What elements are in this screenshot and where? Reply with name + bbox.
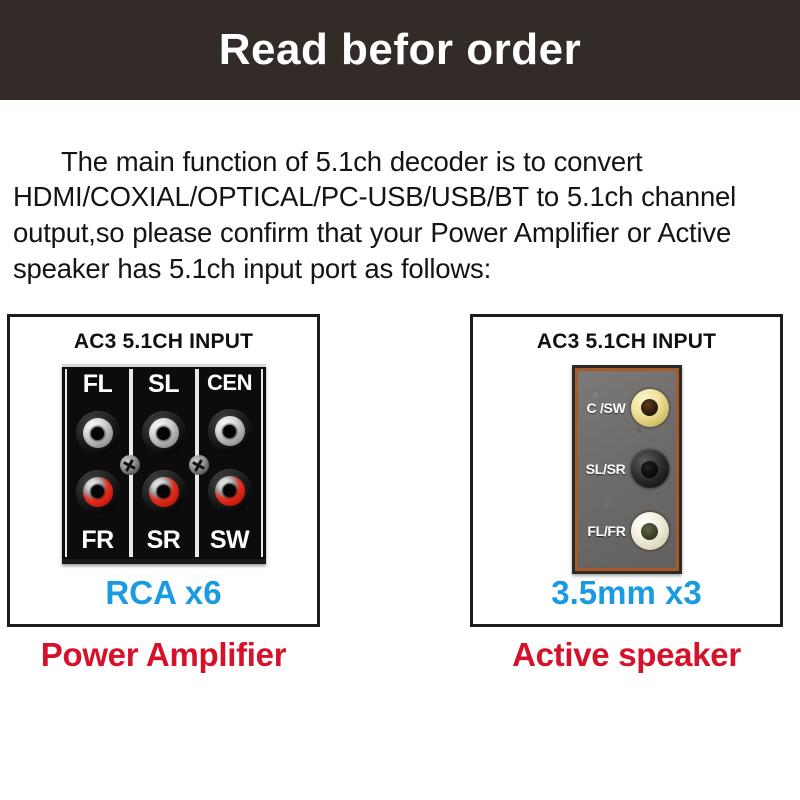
page-title: Read befor order (219, 28, 582, 72)
rca-label-sr: SR (147, 528, 181, 553)
panel-power-amplifier: AC3 5.1CH INPUT FL FR SL SR CEN (7, 314, 320, 627)
rca-jack-sl (142, 411, 186, 455)
aux-row-sl-sr: SL/SR (578, 446, 676, 492)
aux-jack-fl-fr (631, 512, 669, 550)
rca-label-sw: SW (210, 528, 249, 553)
screw-icon-left (120, 455, 140, 475)
rca-jack-fl (76, 411, 120, 455)
rca-jack-grid: FL FR SL SR CEN SW (65, 369, 263, 557)
intro-section: The main function of 5.1ch decoder is to… (0, 100, 800, 287)
header-banner: Read befor order (0, 0, 800, 100)
rca-label-fl: FL (83, 372, 113, 397)
spec-caption-aux: 3.5mm x3 (551, 574, 701, 612)
panel-heading-rca: AC3 5.1CH INPUT (74, 330, 253, 354)
aux-label-fl-fr: FL/FR (587, 523, 625, 539)
rca-jack-sr (142, 470, 186, 514)
connector-comparison: AC3 5.1CH INPUT FL FR SL SR CEN (0, 314, 800, 684)
device-caption-power-amplifier: Power Amplifier (7, 636, 320, 674)
aux-label-sl-sr: SL/SR (586, 461, 626, 477)
rca-label-sl: SL (148, 372, 179, 397)
aux-jack-c-sw (631, 389, 669, 427)
rca-jack-sw (208, 469, 252, 513)
aux-jack-sl-sr (631, 450, 669, 488)
spec-caption-rca: RCA x6 (105, 574, 221, 612)
rca-jack-plate: FL FR SL SR CEN SW (62, 364, 266, 564)
screw-icon-right (189, 455, 209, 475)
aux-jack-plate-face: C /SW SL/SR FL/FR (575, 368, 679, 571)
rca-jack-fr (76, 470, 120, 514)
aux-row-c-sw: C /SW (578, 385, 676, 431)
aux-label-c-sw: C /SW (587, 400, 626, 416)
rca-label-cen: CEN (207, 372, 252, 394)
device-caption-active-speaker: Active speaker (470, 636, 783, 674)
panel-heading-aux: AC3 5.1CH INPUT (537, 330, 716, 354)
rca-column-sl-sr: SL SR (131, 369, 197, 557)
rca-jack-cen (208, 409, 252, 453)
rca-label-fr: FR (81, 528, 113, 553)
panel-active-speaker: AC3 5.1CH INPUT C /SW SL/SR FL/FR (470, 314, 783, 627)
intro-paragraph: The main function of 5.1ch decoder is to… (13, 144, 784, 287)
aux-jack-plate: C /SW SL/SR FL/FR (572, 365, 682, 574)
aux-row-fl-fr: FL/FR (578, 508, 676, 554)
